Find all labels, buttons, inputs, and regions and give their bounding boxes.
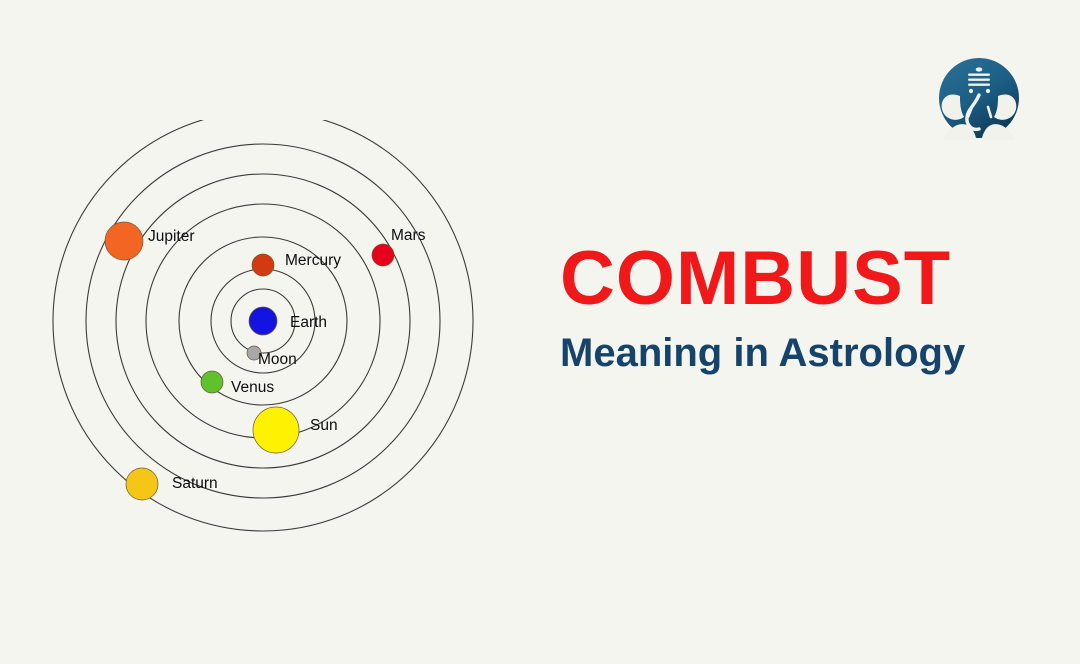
body-sun[interactable] [253, 407, 299, 453]
label-mars: Mars [391, 227, 426, 244]
geocentric-solar-system-diagram: JupiterMarsMercuryEarthMoonVenusSunSatur… [40, 120, 500, 560]
headline-block: COMBUST Meaning in Astrology [560, 243, 1030, 375]
label-saturn: Saturn [172, 475, 218, 492]
body-labels: JupiterMarsMercuryEarthMoonVenusSunSatur… [148, 227, 426, 492]
body-earth[interactable] [249, 307, 277, 335]
ganesha-icon [938, 55, 1020, 140]
celestial-bodies [105, 222, 394, 500]
banner-root: JupiterMarsMercuryEarthMoonVenusSunSatur… [0, 0, 1080, 664]
label-venus: Venus [231, 379, 274, 396]
body-saturn[interactable] [126, 468, 158, 500]
label-moon: Moon [258, 351, 297, 368]
page-subtitle: Meaning in Astrology [560, 331, 1030, 375]
label-earth: Earth [290, 314, 327, 331]
label-jupiter: Jupiter [148, 228, 195, 245]
body-mars[interactable] [372, 244, 394, 266]
label-sun: Sun [310, 417, 338, 434]
body-venus[interactable] [201, 371, 223, 393]
page-title: COMBUST [560, 243, 1030, 315]
body-jupiter[interactable] [105, 222, 143, 260]
body-mercury[interactable] [252, 254, 274, 276]
brand-logo[interactable] [938, 55, 1020, 140]
label-mercury: Mercury [285, 252, 341, 269]
solar-system-svg: JupiterMarsMercuryEarthMoonVenusSunSatur… [40, 120, 500, 560]
